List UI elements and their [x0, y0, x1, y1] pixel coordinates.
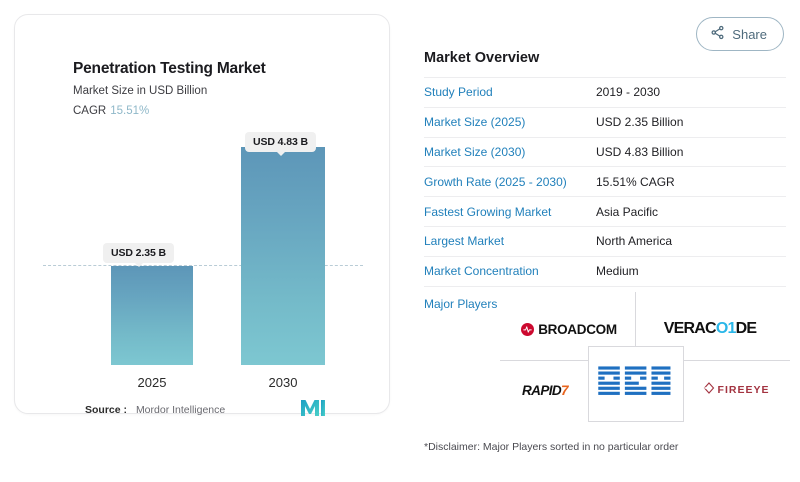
overview-row-market-concentration: Market Concentration Medium [424, 256, 786, 286]
overview-value: 15.51% CAGR [596, 175, 675, 189]
overview-row-fastest-growing-market: Fastest Growing Market Asia Pacific [424, 196, 786, 226]
share-icon [710, 25, 725, 43]
player-logo-rapid7: RAPID7 [502, 364, 588, 416]
x-tick-2025: 2025 [111, 375, 193, 390]
bars-area [15, 115, 391, 365]
chart-card: Penetration Testing Market Market Size i… [14, 14, 390, 414]
grid-line-vertical [635, 292, 636, 347]
overview-row-market-size-2030: Market Size (2030) USD 4.83 Billion [424, 137, 786, 167]
x-tick-2030: 2030 [241, 375, 325, 390]
bar-chart-plot: USD 2.35 B USD 4.83 B 2025 2030 Source :… [15, 15, 391, 415]
rapid7-logo-text: RAPID7 [522, 383, 568, 398]
bar-2030[interactable] [241, 147, 325, 365]
market-snapshot-page: Share Penetration Testing Market Market … [0, 0, 800, 482]
overview-value: 2019 - 2030 [596, 85, 660, 99]
overview-value: Medium [596, 264, 639, 278]
overview-value: Asia Pacific [596, 205, 658, 219]
mordor-intelligence-logo-icon [300, 399, 326, 417]
overview-value: USD 2.35 Billion [596, 115, 683, 129]
major-players-label: Major Players [424, 297, 497, 311]
veracode-logo-text: VERACO1DE [664, 320, 756, 338]
chart-source-name: Mordor Intelligence [136, 404, 225, 416]
broadcom-logo-text: BROADCOM [538, 322, 617, 337]
market-overview-panel: Market Overview Study Period 2019 - 2030… [424, 50, 786, 321]
player-logo-veracode: VERACO1DE [640, 308, 780, 350]
share-button-label: Share [732, 27, 767, 42]
overview-label: Market Concentration [424, 264, 596, 278]
overview-label: Study Period [424, 85, 596, 99]
overview-row-growth-rate: Growth Rate (2025 - 2030) 15.51% CAGR [424, 166, 786, 196]
player-logo-fireeye: FIREEYE [684, 364, 788, 416]
player-logo-broadcom: BROADCOM [508, 308, 630, 350]
overview-value: North America [596, 234, 672, 248]
overview-label: Market Size (2025) [424, 115, 596, 129]
overview-label: Market Size (2030) [424, 145, 596, 159]
overview-label: Largest Market [424, 234, 596, 248]
major-players-logo-grid: BROADCOM VERACO1DE RAPID7 [500, 300, 790, 420]
overview-value: USD 4.83 Billion [596, 145, 683, 159]
disclaimer-text: *Disclaimer: Major Players sorted in no … [424, 441, 678, 453]
share-button[interactable]: Share [696, 17, 784, 51]
overview-label: Growth Rate (2025 - 2030) [424, 175, 596, 189]
bar-2025[interactable] [111, 266, 193, 365]
overview-label: Fastest Growing Market [424, 205, 596, 219]
overview-row-market-size-2025: Market Size (2025) USD 2.35 Billion [424, 107, 786, 137]
overview-row-largest-market: Largest Market North America [424, 226, 786, 256]
bar-value-label-2030: USD 4.83 B [245, 132, 316, 152]
chart-source: Source : Mordor Intelligence [85, 404, 345, 416]
bar-value-label-2025: USD 2.35 B [103, 243, 174, 263]
fireeye-mark-icon [703, 381, 715, 399]
overview-row-study-period: Study Period 2019 - 2030 [424, 77, 786, 107]
broadcom-mark-icon [521, 323, 534, 336]
fireeye-logo-text: FIREEYE [718, 384, 770, 396]
ibm-logo-mark [597, 365, 673, 402]
player-logo-ibm [588, 346, 682, 420]
market-overview-title: Market Overview [424, 50, 786, 66]
chart-source-prefix: Source : [85, 404, 127, 416]
